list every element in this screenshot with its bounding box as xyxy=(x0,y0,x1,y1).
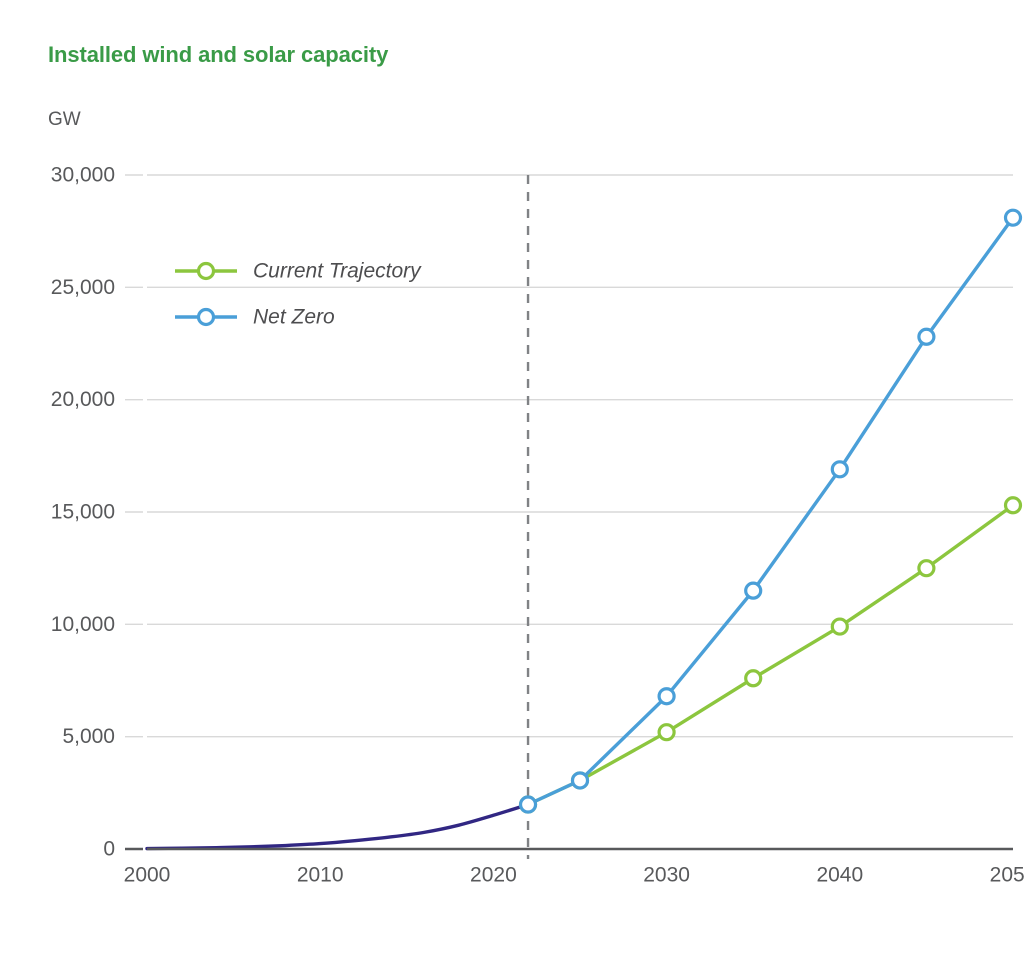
line-chart-plot: 05,00010,00015,00020,00025,00030,000 200… xyxy=(0,0,1024,961)
data-point-marker xyxy=(919,329,934,344)
x-tick-label: 2020 xyxy=(470,863,517,886)
x-tick-label: 2030 xyxy=(643,863,690,886)
data-point-marker xyxy=(659,725,674,740)
x-tick-label: 2040 xyxy=(816,863,863,886)
y-tick-label: 20,000 xyxy=(51,388,115,411)
y-tick-label: 15,000 xyxy=(51,501,115,524)
xtick-labels-group: 200020102020203020402050 xyxy=(124,863,1024,886)
ytick-labels-group: 05,00010,00015,00020,00025,00030,000 xyxy=(51,164,115,861)
x-tick-label: 2000 xyxy=(124,863,171,886)
data-point-marker xyxy=(1006,210,1021,225)
legend-item-label: Net Zero xyxy=(253,306,335,329)
data-point-marker xyxy=(832,462,847,477)
y-tick-label: 5,000 xyxy=(62,725,115,748)
legend-item-label: Current Trajectory xyxy=(253,260,422,283)
series-line xyxy=(147,805,528,849)
data-point-marker xyxy=(746,671,761,686)
legend-swatch-marker xyxy=(199,264,214,279)
series-markers-group xyxy=(521,210,1021,812)
data-point-marker xyxy=(832,619,847,634)
y-tick-label: 25,000 xyxy=(51,276,115,299)
data-point-marker xyxy=(659,689,674,704)
chart-figure: Installed wind and solar capacity GW 05,… xyxy=(0,0,1024,961)
x-tick-label: 2050 xyxy=(990,863,1024,886)
data-point-marker xyxy=(573,773,588,788)
data-point-marker xyxy=(1006,498,1021,513)
data-point-marker xyxy=(919,561,934,576)
data-point-marker xyxy=(746,583,761,598)
x-tick-label: 2010 xyxy=(297,863,344,886)
y-tick-label: 10,000 xyxy=(51,613,115,636)
series-line xyxy=(528,218,1013,805)
legend-swatch-marker xyxy=(199,310,214,325)
y-tick-label: 30,000 xyxy=(51,164,115,187)
data-point-marker xyxy=(521,797,536,812)
legend: Current TrajectoryNet Zero xyxy=(175,260,422,329)
y-tick-label: 0 xyxy=(103,838,115,861)
